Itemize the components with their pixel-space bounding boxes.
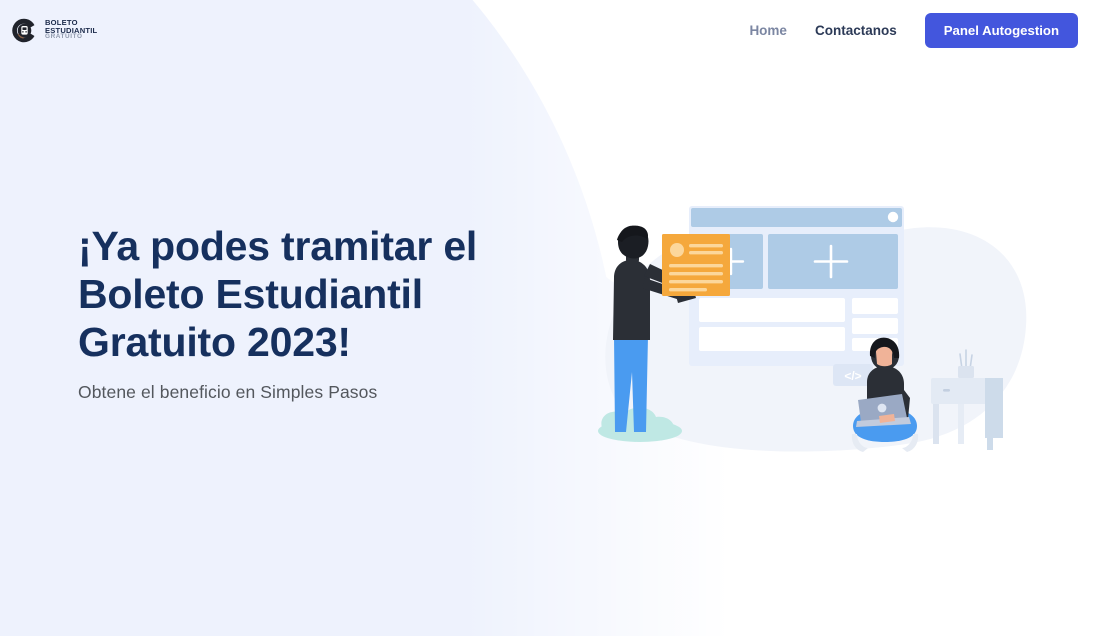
online-form-submission-illustration-icon: </> <box>576 176 1046 476</box>
desk-drawer-handle <box>943 389 950 392</box>
main-navigation: Home Contactanos Panel Autogestion <box>735 13 1078 48</box>
desk-side-panel <box>985 378 1003 438</box>
form-row-2 <box>699 327 845 351</box>
nav-item-contactanos[interactable]: Contactanos <box>801 17 911 44</box>
orange-document-card <box>662 234 730 296</box>
page-title: ¡Ya podes tramitar el Boleto Estudiantil… <box>78 223 520 367</box>
desk-leg-mid <box>958 404 964 444</box>
brand-logo-link[interactable]: BOLETO ESTUDIANTIL GRATUITO <box>10 16 97 45</box>
brand-wordmark: BOLETO ESTUDIANTIL GRATUITO <box>45 19 97 41</box>
desk-leg-left <box>933 404 939 444</box>
hero-subtitle: Obtene el beneficio en Simples Pasos <box>78 382 520 403</box>
hero-title-line-1: ¡Ya podes tramitar el <box>78 223 477 269</box>
hero-title-line-2: Boleto Estudiantil <box>78 271 423 317</box>
hero-title-line-3: Gratuito 2023! <box>78 319 351 365</box>
form-row-1 <box>699 298 845 322</box>
pencil-cup <box>958 366 974 378</box>
hero-copy: ¡Ya podes tramitar el Boleto Estudiantil… <box>0 223 520 473</box>
site-header: BOLETO ESTUDIANTIL GRATUITO Home Contact… <box>0 0 1101 60</box>
hero-section: ¡Ya podes tramitar el Boleto Estudiantil… <box>0 60 1101 636</box>
brand-line-3: GRATUITO <box>45 34 97 40</box>
panel-autogestion-button[interactable]: Panel Autogestion <box>925 13 1078 48</box>
document-avatar <box>670 243 684 257</box>
browser-window-dot <box>887 211 897 221</box>
man-torso <box>613 260 650 340</box>
form-side-box-1 <box>852 298 898 314</box>
form-side-box-2 <box>852 318 898 334</box>
laptop-logo <box>877 403 886 412</box>
desk-leg-right <box>987 438 993 450</box>
nav-item-home[interactable]: Home <box>735 17 801 44</box>
boleto-circle-bus-logo-icon <box>10 16 39 45</box>
hero-illustration: </> <box>520 176 1101 521</box>
code-badge-text: </> <box>844 369 861 383</box>
